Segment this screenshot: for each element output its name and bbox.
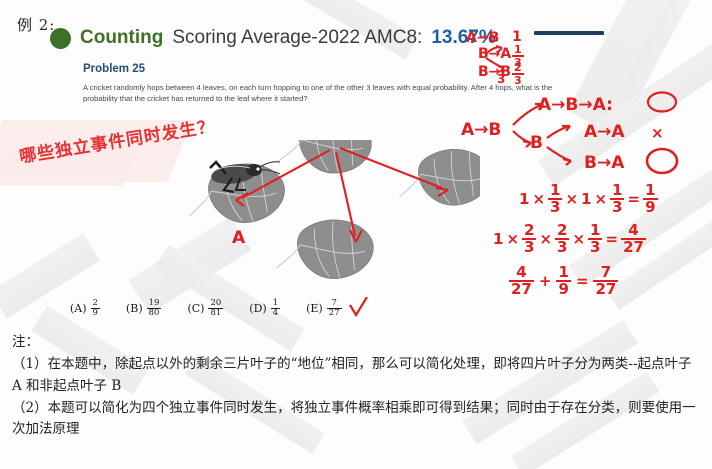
category-label: Counting	[80, 27, 163, 49]
eq2-b: 23	[522, 223, 536, 255]
choice-c-num: 20	[208, 299, 223, 308]
answer-choices: (A) 2 9 (B) 19 80 (C) 20 81 (D) 1 4	[70, 297, 370, 319]
eq3-a: 427	[509, 265, 534, 297]
eq2-c: 23	[555, 223, 569, 255]
ink-equation-3: 427 + 19 = 727	[509, 265, 618, 297]
choice-c[interactable]: (C) 20 81	[187, 299, 223, 318]
eq3-b: 19	[556, 265, 570, 297]
ink-equation-1: 1× 13× 1× 13 = 19	[519, 183, 658, 215]
ink-small-tree-strokes	[458, 26, 528, 84]
blue-horizontal-rule	[534, 31, 604, 35]
choice-b-num: 19	[147, 299, 162, 308]
notes-line-2: （2）本题可以简化为四个独立事件同时发生，将独立事件概率相乘即可得到结果；同时由…	[12, 398, 702, 442]
choice-b-den: 80	[147, 308, 162, 318]
choice-c-label: (C)	[187, 302, 204, 315]
ink-leaf-a-label: A	[232, 228, 245, 248]
choice-d[interactable]: (D) 1 4	[249, 299, 280, 318]
eq2-d: 13	[588, 223, 602, 255]
choice-e-num: 7	[329, 299, 338, 308]
title-rest-label: Scoring Average-2022 AMC8:	[172, 27, 422, 49]
cricket-leaves-figure: A	[180, 140, 480, 305]
choice-c-den: 81	[208, 308, 223, 318]
eq2-result: 427	[621, 223, 646, 255]
choice-e-den: 27	[327, 308, 342, 318]
choice-b[interactable]: (B) 19 80	[126, 299, 162, 318]
choice-e-value: 7 27	[327, 299, 342, 318]
correct-check-icon	[348, 297, 370, 319]
eq3-result: 727	[593, 265, 618, 297]
ink-equation-2: 1× 23× 23× 13 = 427	[493, 223, 646, 255]
leaf-top	[278, 140, 372, 174]
choice-d-value: 1 4	[271, 299, 280, 318]
problem-heading: Problem 25	[83, 63, 145, 75]
choice-d-den: 4	[271, 308, 280, 318]
choice-b-value: 19 80	[147, 299, 162, 318]
notes-block: 注： （1）在本题中，除起点以外的剩余三片叶子的“地位”相同，那么可以简化处理，…	[12, 332, 702, 441]
lesson-title: Counting Scoring Average-2022 AMC8: 13.6…	[50, 27, 496, 49]
choice-e-label: (E)	[306, 302, 323, 315]
choice-a-num: 2	[91, 299, 100, 308]
choice-e[interactable]: (E) 7 27	[306, 297, 369, 319]
choice-b-label: (B)	[126, 302, 143, 315]
eq2-a: 1	[493, 230, 503, 248]
notes-title: 注：	[12, 332, 702, 354]
leaf-bottom	[277, 220, 374, 279]
eq1-c: 1	[581, 190, 591, 208]
notes-line-1: （1）在本题中，除起点以外的剩余三片叶子的“地位”相同，那么可以简化处理，即将四…	[12, 354, 702, 398]
ink-tree-strokes	[455, 85, 710, 190]
green-circle-bullet-icon	[50, 28, 71, 49]
choice-d-num: 1	[271, 299, 280, 308]
choice-a-label: (A)	[70, 302, 87, 315]
choice-c-value: 20 81	[208, 299, 223, 318]
eq1-b: 13	[548, 183, 562, 215]
figure-svg	[180, 140, 480, 305]
choice-a[interactable]: (A) 2 9	[70, 299, 100, 318]
choice-a-den: 9	[91, 308, 100, 318]
eq1-a: 1	[519, 190, 529, 208]
page-canvas: 例 2: Counting Scoring Average-2022 AMC8:…	[0, 0, 712, 469]
choice-a-value: 2 9	[91, 299, 100, 318]
choice-d-label: (D)	[249, 302, 266, 315]
eq1-d: 13	[610, 183, 624, 215]
eq1-result: 19	[643, 183, 657, 215]
